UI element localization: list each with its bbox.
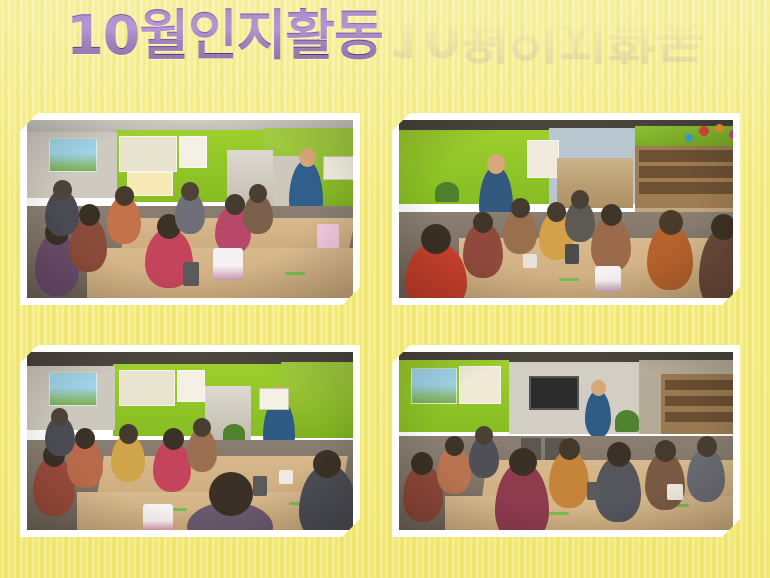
photo-bottom-left[interactable] — [20, 345, 360, 537]
photo-bottom-right-image — [399, 352, 733, 530]
page-title-reflection: 10월인지활동 — [387, 8, 704, 65]
photo-top-right-image — [399, 120, 733, 298]
photo-bottom-left-image — [27, 352, 353, 530]
photo-top-left[interactable] — [20, 113, 360, 305]
slide-title-block: 10월인지활동 10월인지활동 — [0, 8, 770, 65]
photo-top-left-image — [27, 120, 353, 298]
photo-top-right[interactable] — [392, 113, 740, 305]
slide-canvas: 10월인지활동 10월인지활동 — [0, 0, 770, 578]
photo-bottom-right[interactable] — [392, 345, 740, 537]
page-title: 10월인지활동 — [66, 8, 383, 65]
